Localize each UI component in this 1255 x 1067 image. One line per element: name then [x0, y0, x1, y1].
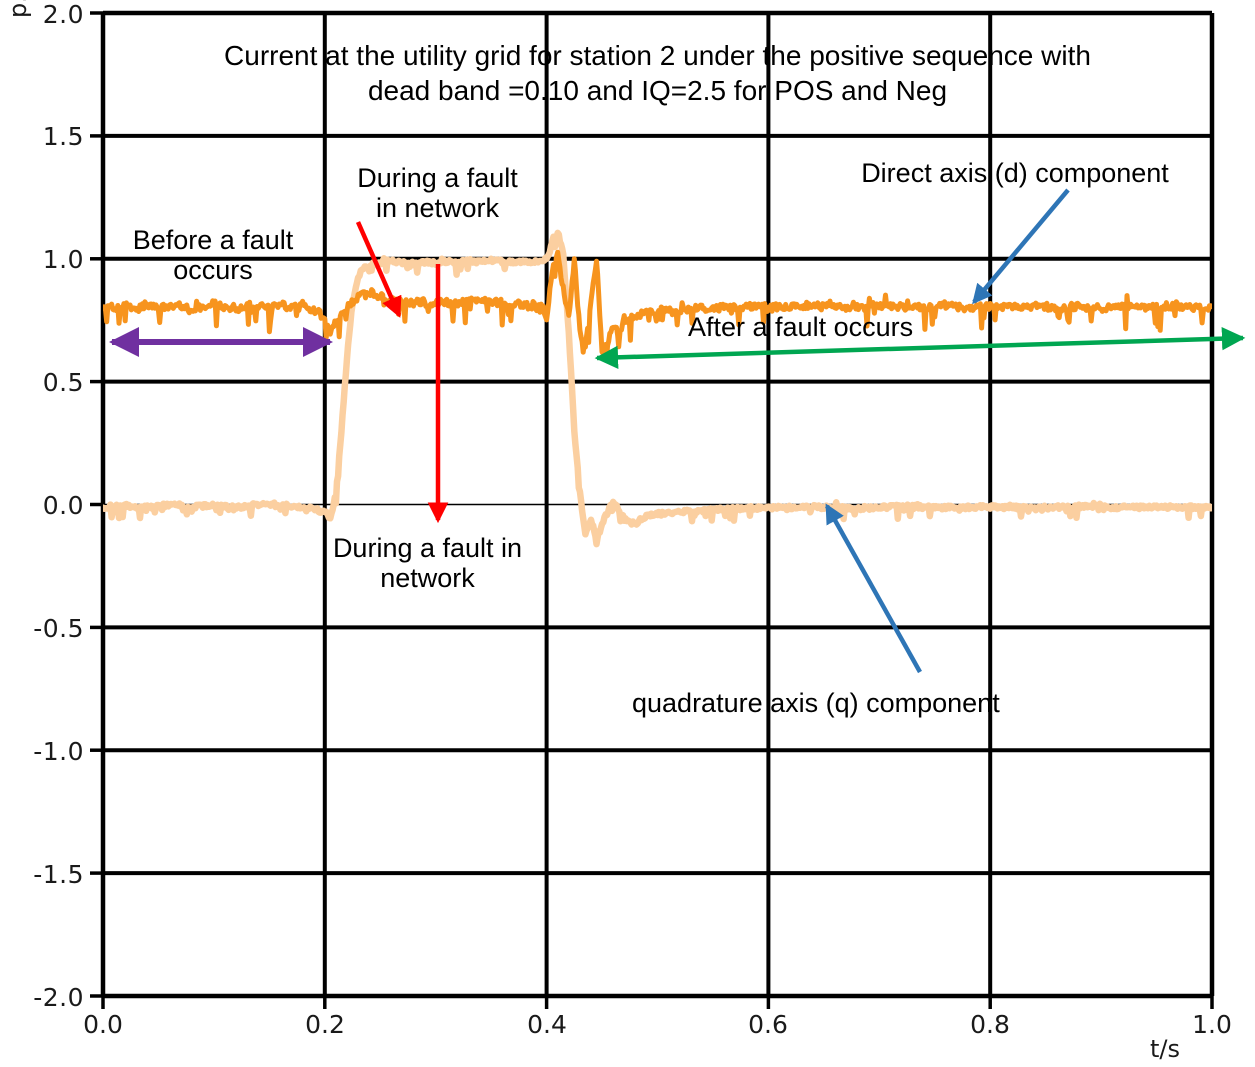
annotation-direct-axis-d-component: Direct axis (d) component [820, 158, 1210, 188]
y-tick-label: 2.0 [20, 0, 84, 29]
x-tick-label: 0.0 [68, 1010, 138, 1039]
y-tick-label: 0.0 [20, 491, 84, 520]
x-tick-label: 0.6 [733, 1010, 803, 1039]
x-tick-label: 0.2 [290, 1010, 360, 1039]
y-tick-label: 0.5 [20, 368, 84, 397]
y-tick-label: -1.0 [14, 737, 84, 766]
annotation-before-a-fault-occurs: Before a fault occurs [108, 225, 318, 285]
x-tick-label: 0.8 [955, 1010, 1025, 1039]
chart-figure: Current at the utility grid for station … [0, 0, 1255, 1067]
annotation-quadrature-axis-q-component: quadrature axis (q) component [632, 688, 1102, 718]
y-tick-label: -2.0 [14, 983, 84, 1012]
y-tick-label: -0.5 [14, 614, 84, 643]
x-tick-label: 0.4 [512, 1010, 582, 1039]
y-tick-label: 1.0 [20, 245, 84, 274]
x-axis-label: t/s [1150, 1035, 1180, 1063]
x-tick-label: 1.0 [1177, 1010, 1247, 1039]
annotation-after-a-fault-occurs: After a fault occurs [688, 312, 968, 342]
y-tick-label: -1.5 [14, 860, 84, 889]
y-tick-label: 1.5 [20, 122, 84, 151]
chart-title: Current at the utility grid for station … [110, 38, 1205, 108]
annotation-during-a-fault-in-network-top: During a fault in network [330, 163, 545, 223]
annotation-during-a-fault-in-network-bottom: During a fault in network [300, 533, 555, 593]
